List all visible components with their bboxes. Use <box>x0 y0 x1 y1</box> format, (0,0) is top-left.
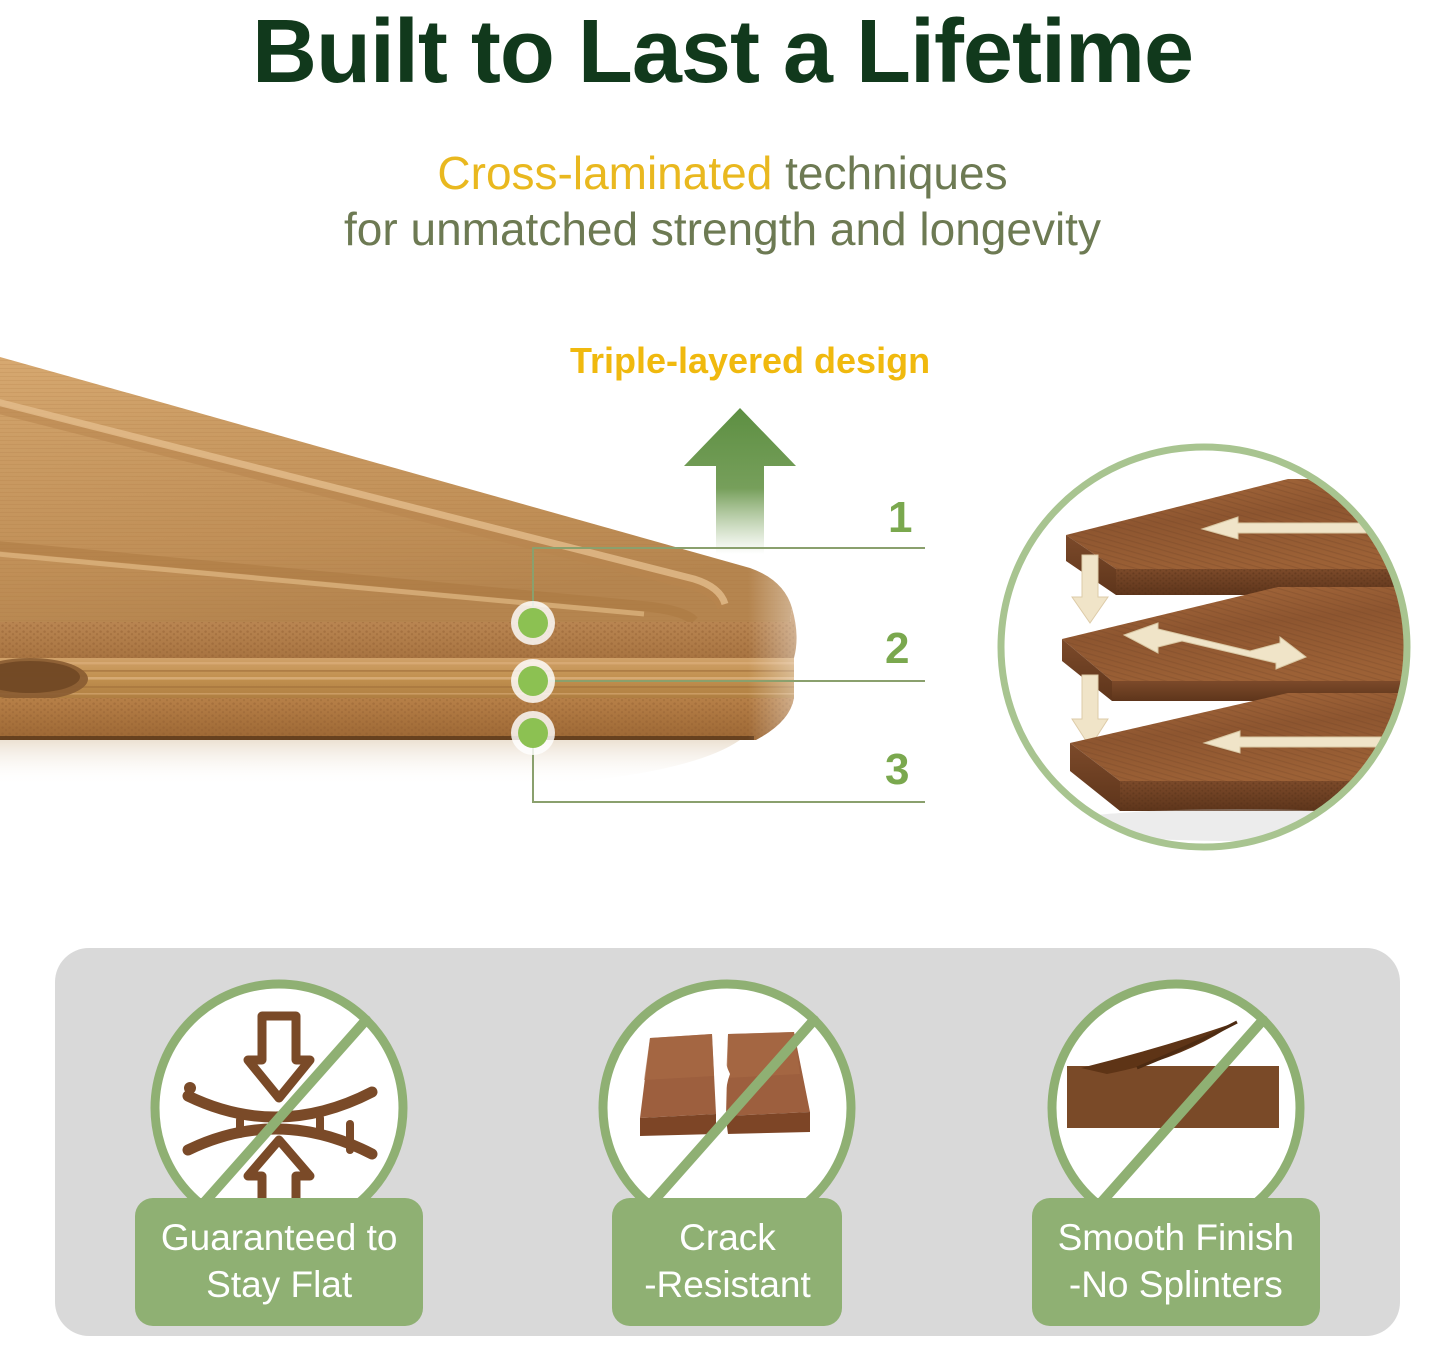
subtitle-line-2: for unmatched strength and longevity <box>0 201 1445 257</box>
benefit-badge-crack-resistant: Crack -Resistant <box>542 976 912 1326</box>
benefit-badge-stay-flat: Guaranteed to Stay Flat <box>94 976 464 1326</box>
callout-group: 1 2 3 <box>0 336 960 836</box>
layer-dot-2 <box>518 666 548 696</box>
benefit-badge-smooth-finish: Smooth Finish -No Splinters <box>991 976 1361 1326</box>
page-title: Built to Last a Lifetime <box>0 0 1445 106</box>
callout-number-1: 1 <box>888 493 912 543</box>
layer-dot-1 <box>518 608 548 638</box>
three-layer-diagram-icon <box>988 437 1420 857</box>
three-layer-inset <box>988 437 1420 857</box>
layer-dot-3 <box>518 718 548 748</box>
subtitle-highlight: Cross-laminated <box>437 147 772 199</box>
page-subtitle: Cross-laminated techniques for unmatched… <box>0 145 1445 257</box>
benefit-badge-label: Crack -Resistant <box>612 1198 842 1326</box>
callout-number-2: 2 <box>885 624 909 674</box>
subtitle-rest: techniques <box>772 147 1007 199</box>
callout-leader-lines <box>0 336 960 836</box>
product-infographic: Built to Last a Lifetime Cross-laminated… <box>0 0 1445 1345</box>
benefit-badge-label: Smooth Finish -No Splinters <box>1032 1198 1321 1326</box>
benefit-badge-label: Guaranteed to Stay Flat <box>135 1198 424 1326</box>
callout-number-3: 3 <box>885 745 909 795</box>
benefit-badge-list: Guaranteed to Stay Flat <box>55 948 1400 1336</box>
